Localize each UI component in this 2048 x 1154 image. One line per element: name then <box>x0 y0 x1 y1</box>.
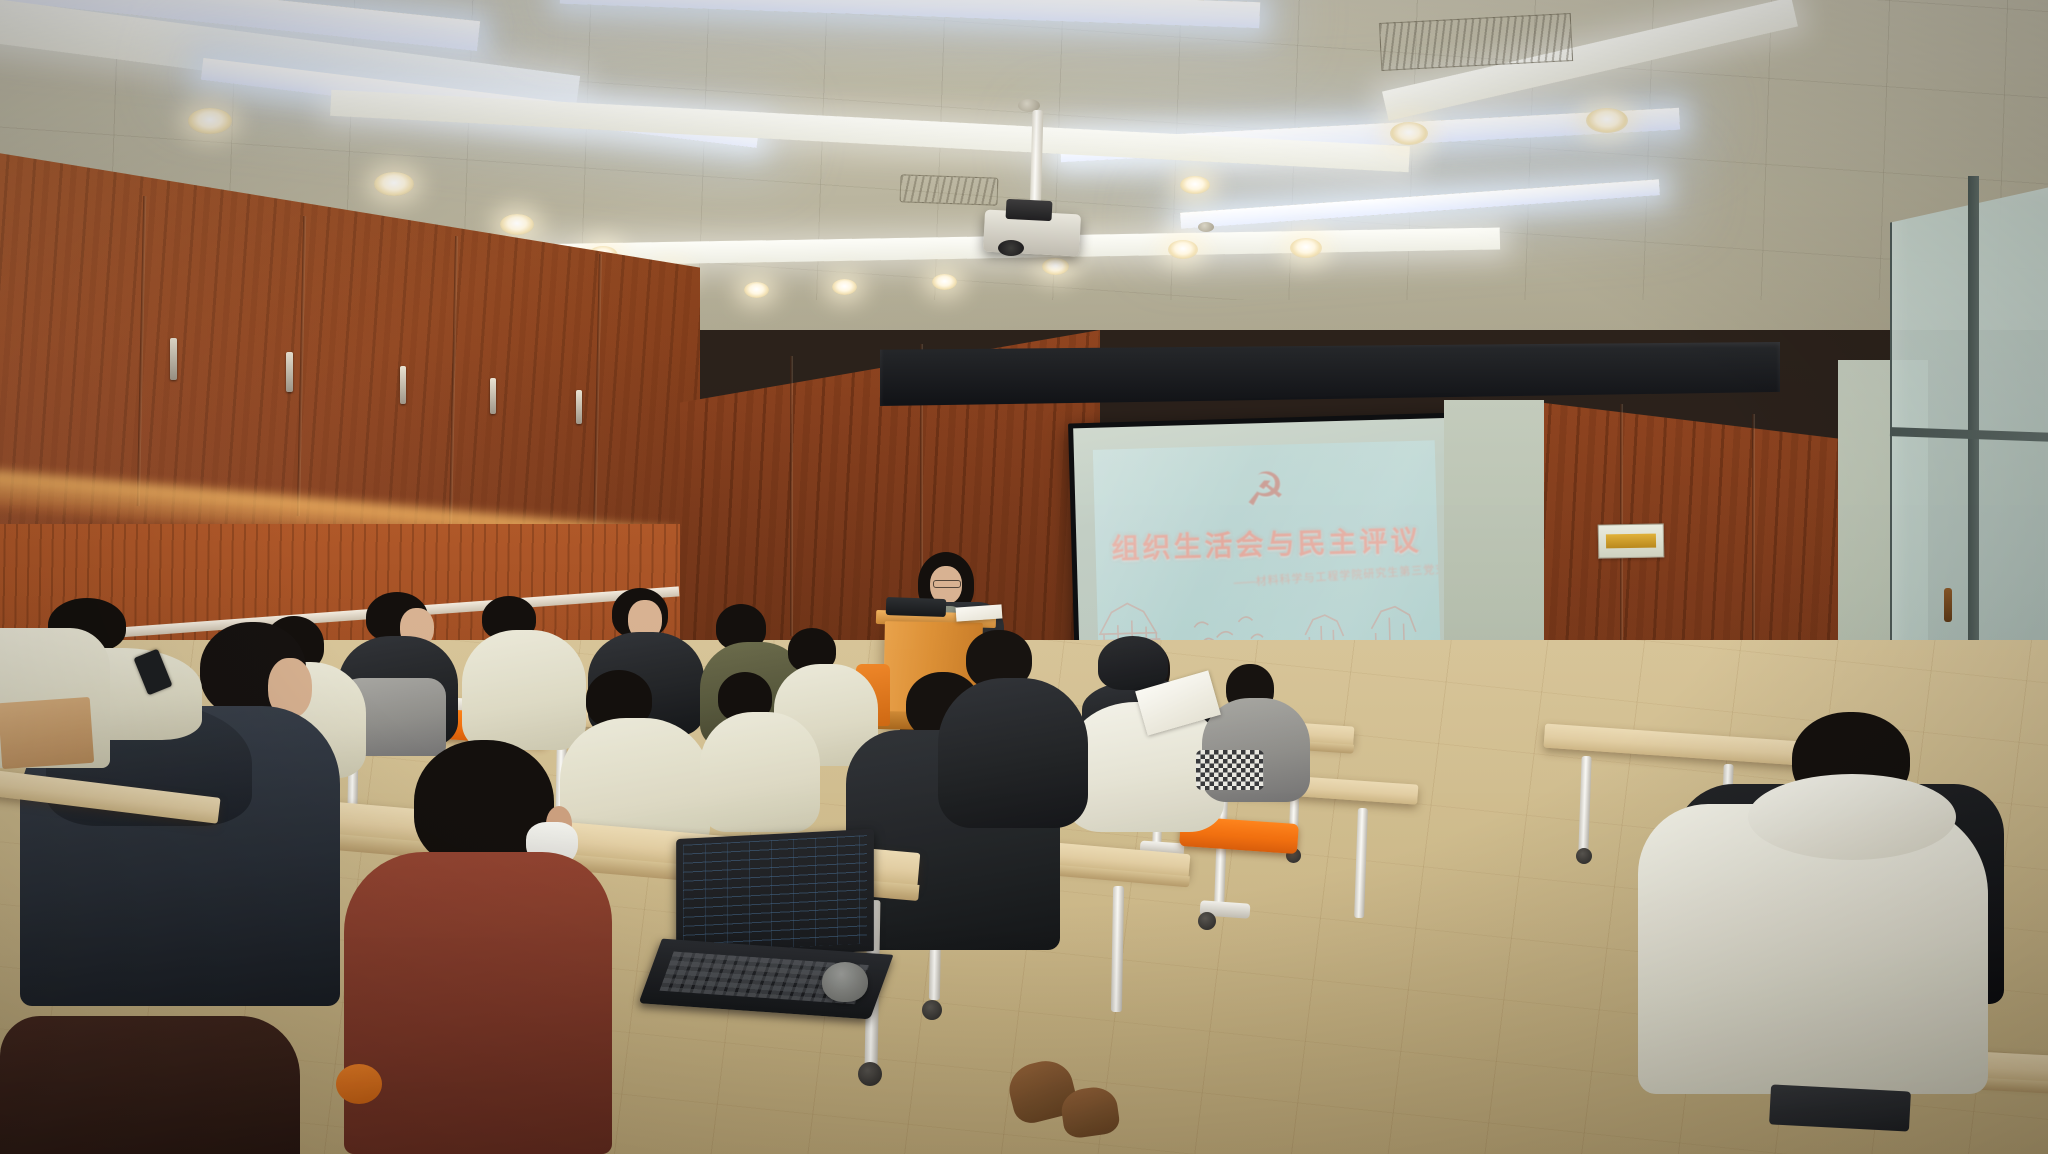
desk-caster <box>922 1000 942 1020</box>
ceiling-downlight <box>1180 176 1210 194</box>
cabinet-handle[interactable] <box>490 378 496 414</box>
ceiling-downlight <box>1586 108 1628 133</box>
ceiling-air-vent <box>1379 13 1573 71</box>
bag-on-floor <box>336 1064 382 1104</box>
laptop-screen-spreadsheet <box>683 835 867 953</box>
desk-leg <box>1111 886 1124 1012</box>
cabinet-handle[interactable] <box>170 338 177 380</box>
audience-coat <box>700 712 820 832</box>
ceiling-downlight <box>832 279 857 295</box>
ceiling-downlight <box>374 172 414 196</box>
classroom-photo: ☭ 组织生活会与民主评议 ——材料科学与工程学院研究生第三党支部 <box>0 0 2048 1154</box>
presenter-glasses-icon <box>933 580 961 588</box>
desk-caster <box>1198 912 1216 930</box>
checkered-scarf <box>1196 750 1264 790</box>
audience-coat <box>462 630 586 750</box>
ceiling-downlight <box>1168 240 1198 259</box>
bag-on-desk <box>0 697 94 769</box>
cabinet-handle[interactable] <box>286 352 293 392</box>
ceiling-air-vent <box>900 174 999 205</box>
ceiling-downlight <box>1290 238 1322 258</box>
cabinet-handle[interactable] <box>400 366 406 404</box>
smoke-detector <box>1198 222 1214 232</box>
desk-caster <box>1576 848 1592 864</box>
desk-caster <box>858 1062 882 1086</box>
audience-hood-roll <box>1748 774 1956 860</box>
wall-sign-label <box>1606 534 1656 549</box>
projector-bracket <box>1006 199 1053 221</box>
cabinet-handle[interactable] <box>576 390 582 424</box>
notebook-on-desk <box>1769 1084 1911 1131</box>
ceiling-downlight <box>932 274 957 290</box>
lectern-laptop <box>886 597 947 617</box>
foreground-seated-person <box>0 1016 300 1154</box>
audience-sweater <box>344 852 612 1154</box>
door-handle[interactable] <box>1944 588 1952 622</box>
computer-mouse[interactable] <box>822 962 868 1002</box>
wall-sign-plaque <box>1598 523 1665 558</box>
ceiling-downlight <box>1390 122 1428 145</box>
ceiling-downlight <box>188 108 232 134</box>
audience-coat <box>938 678 1088 828</box>
beanie-hat <box>1098 636 1168 690</box>
projector-lens <box>998 240 1024 256</box>
ceiling-downlight <box>744 282 769 298</box>
wall-panel-seam <box>790 356 793 636</box>
wall-fascia-band <box>880 342 1780 406</box>
ceiling-downlight <box>500 214 534 235</box>
ceiling-downlight <box>1042 258 1069 275</box>
